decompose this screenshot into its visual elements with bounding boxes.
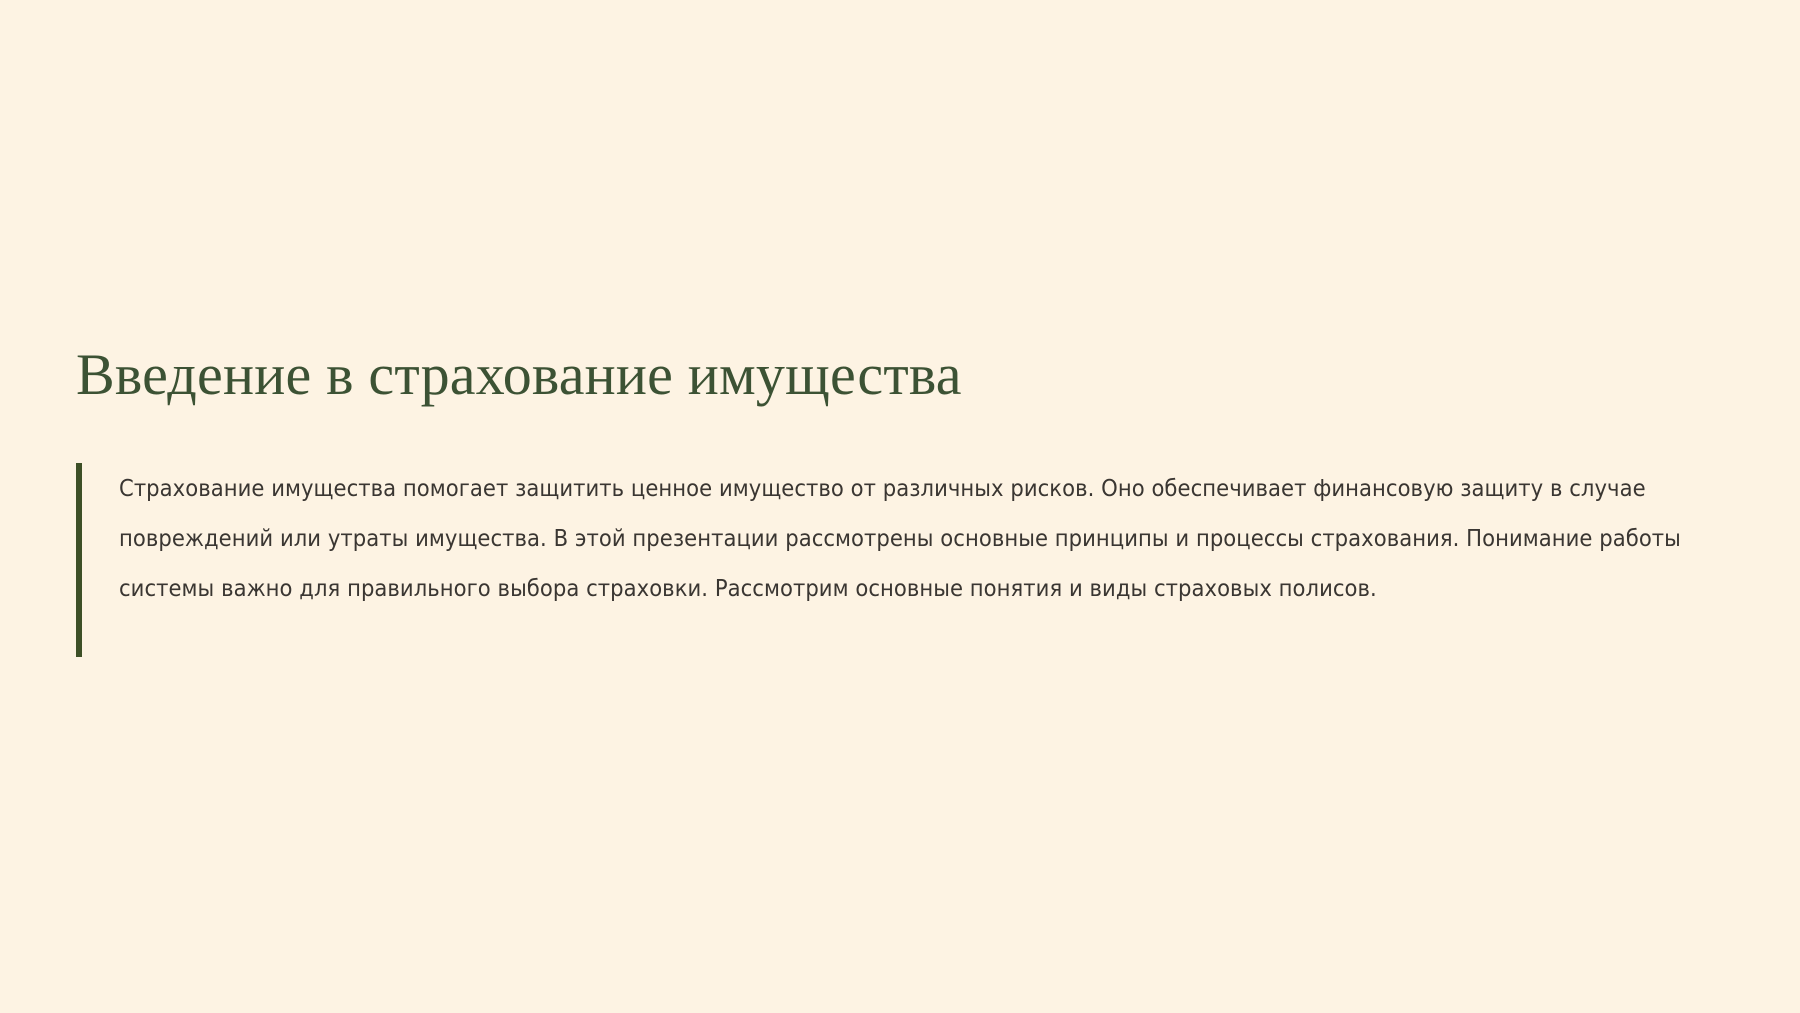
presentation-slide: Введение в страхование имущества Страхов… (0, 0, 1800, 1013)
slide-title: Введение в страхование имущества (76, 344, 962, 407)
slide-body-block: Страхование имущества помогает защитить … (76, 463, 1736, 657)
slide-body-text: Страхование имущества помогает защитить … (82, 463, 1736, 657)
